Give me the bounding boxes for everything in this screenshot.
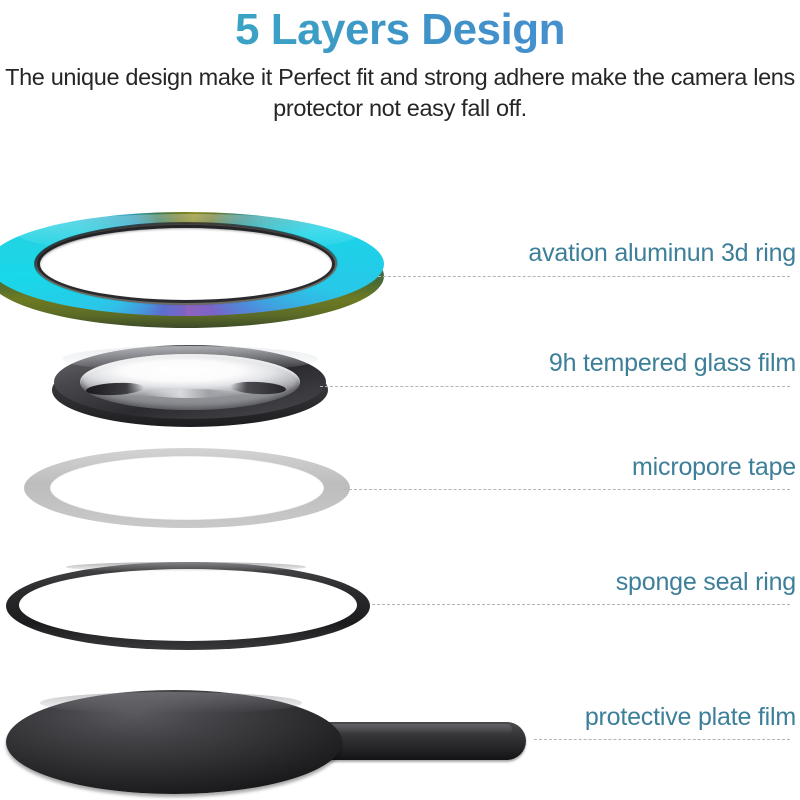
layer-label-protective-plate-film: protective plate film: [585, 702, 796, 732]
connector-line-aviation-aluminium-ring: [378, 276, 790, 277]
plate-disc-highlight: [40, 692, 302, 714]
iridescent-aluminium-ring-graphic: [0, 212, 388, 334]
header: 5 Layers Design The unique design make i…: [0, 0, 800, 124]
micropore-tape-graphic: [24, 448, 354, 532]
sponge-inner-hole: [19, 569, 357, 641]
connector-line-protective-plate-film: [534, 739, 790, 740]
page-subtitle: The unique design make it Perfect fit an…: [0, 58, 800, 124]
protective-plate-film-graphic: [6, 690, 546, 798]
connector-line-sponge-seal-ring: [372, 604, 790, 605]
ring-inner-bevel-shadow: [34, 222, 338, 306]
layer-label-micropore-tape: micropore tape: [632, 452, 796, 482]
tape-inner-hole: [50, 456, 324, 520]
layer-label-tempered-glass-film: 9h tempered glass film: [549, 348, 796, 378]
connector-line-tempered-glass-film: [320, 386, 790, 387]
connector-line-micropore-tape: [344, 489, 790, 490]
glass-reflection-center: [144, 389, 236, 398]
layer-label-aviation-aluminium-ring: avation aluminun 3d ring: [528, 238, 796, 268]
page-title: 5 Layers Design: [0, 0, 800, 58]
layer-label-sponge-seal-ring: sponge seal ring: [616, 567, 796, 597]
sponge-seal-ring-graphic: [6, 562, 374, 654]
tempered-glass-film-graphic: [52, 345, 332, 431]
sponge-top-highlight: [66, 562, 306, 572]
